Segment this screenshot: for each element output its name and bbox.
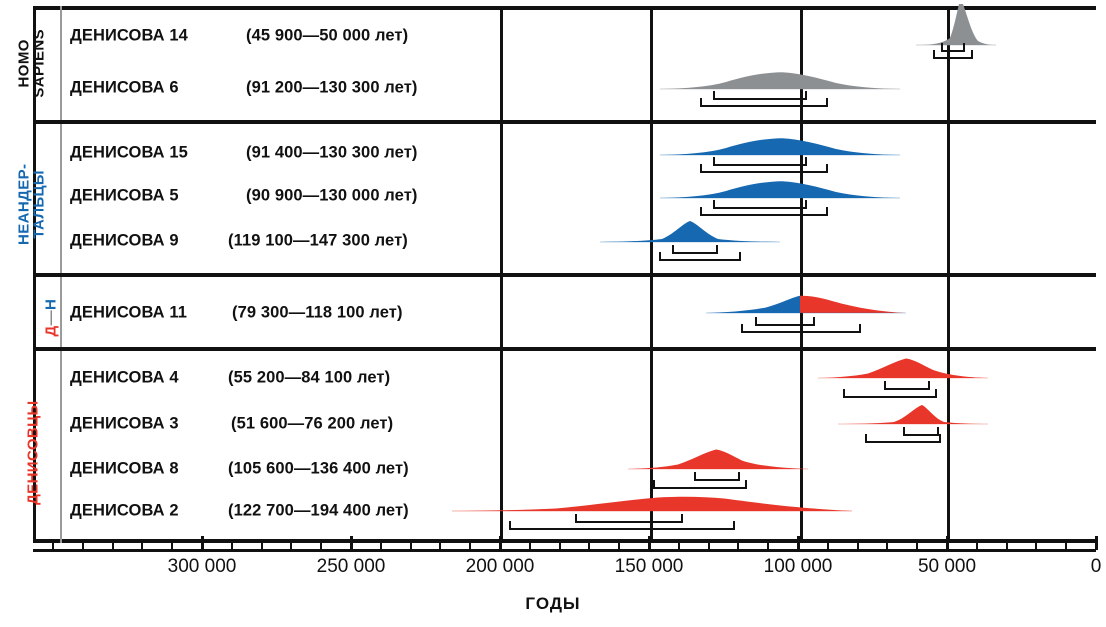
axis-tick-minor <box>290 542 292 550</box>
sample-range: (51 600—76 200 лет) <box>231 415 393 434</box>
axis-tick-minor <box>588 542 590 550</box>
confidence-bracket-outer <box>741 324 861 333</box>
axis-tick-minor <box>380 542 382 550</box>
group-label-neanderthals: НЕАНДЕР-ТАЛЬЦЫ <box>17 142 48 266</box>
axis-tick-major <box>350 536 353 550</box>
axis-tick-label: 300 000 <box>168 556 237 578</box>
group-separator-3 <box>33 347 1096 351</box>
axis-tick-minor <box>708 542 710 550</box>
confidence-bracket-outer <box>700 207 828 216</box>
group-label-dash: — <box>42 310 59 325</box>
x-axis-line <box>33 549 1096 552</box>
axis-tick-minor <box>737 542 739 550</box>
sample-range: (122 700—194 400 лет) <box>228 502 409 521</box>
group-label-n: Н <box>42 299 59 310</box>
sample-name: ДЕНИСОВА 9 <box>70 232 179 251</box>
axis-tick-major <box>201 536 204 550</box>
sample-name: ДЕНИСОВА 15 <box>70 144 188 163</box>
sample-name: ДЕНИСОВА 3 <box>70 415 179 434</box>
axis-tick-minor <box>529 542 531 550</box>
axis-tick-label: 100 000 <box>764 556 833 578</box>
radiocarbon-date-chart: HOMOSAPIENS НЕАНДЕР-ТАЛЬЦЫ Д—Н ДЕНИСОВЦЫ… <box>0 0 1106 627</box>
group-label-d: Д <box>42 325 59 336</box>
sample-range: (91 200—130 300 лет) <box>246 79 418 98</box>
sample-name: ДЕНИСОВА 6 <box>70 79 179 98</box>
sample-range: (119 100—147 300 лет) <box>228 232 408 251</box>
group-separator-1 <box>33 120 1096 124</box>
confidence-bracket-outer <box>509 521 735 530</box>
axis-tick-minor <box>231 542 233 550</box>
sample-name: ДЕНИСОВА 11 <box>70 304 187 323</box>
x-axis-title: ГОДЫ <box>0 594 1106 614</box>
sample-name: ДЕНИСОВА 8 <box>70 460 179 479</box>
axis-tick-minor <box>141 542 143 550</box>
axis-tick-minor <box>827 542 829 550</box>
axis-tick-minor <box>1006 542 1008 550</box>
axis-tick-minor <box>1065 542 1067 550</box>
distribution-curve <box>628 442 808 470</box>
axis-tick-minor <box>767 542 769 550</box>
axis-tick-minor <box>886 542 888 550</box>
axis-tick-minor <box>82 542 84 550</box>
group-label-line2: ТАЛЬЦЫ <box>31 170 48 239</box>
axis-tick-major <box>946 536 949 550</box>
axis-tick-minor <box>320 542 322 550</box>
gridline-50000 <box>947 6 950 543</box>
sample-name: ДЕНИСОВА 4 <box>70 369 179 388</box>
distribution-curve <box>660 174 900 199</box>
group-separator-2 <box>33 273 1096 277</box>
axis-tick-minor <box>916 542 918 550</box>
axis-tick-major <box>1095 536 1098 550</box>
distribution-curve <box>452 485 852 512</box>
axis-tick-major <box>648 536 651 550</box>
distribution-curve <box>916 4 996 46</box>
distribution-curve <box>660 64 900 90</box>
axis-tick-minor <box>112 542 114 550</box>
confidence-bracket-outer <box>933 50 973 59</box>
axis-tick-minor <box>857 542 859 550</box>
axis-tick-minor <box>469 542 471 550</box>
group-label-denisovan-neanderthal: Д—Н <box>43 288 58 348</box>
confidence-bracket-outer <box>865 434 941 443</box>
sample-name: ДЕНИСОВА 5 <box>70 187 179 206</box>
axis-tick-minor <box>1035 542 1037 550</box>
axis-tick-minor <box>559 542 561 550</box>
sample-name: ДЕНИСОВА 2 <box>70 502 179 521</box>
axis-tick-major <box>797 536 800 550</box>
axis-tick-minor <box>976 542 978 550</box>
distribution-curve <box>660 131 900 156</box>
confidence-bracket-outer <box>843 389 937 398</box>
sample-range: (45 900—50 000 лет) <box>246 27 408 46</box>
distribution-curve <box>706 288 906 314</box>
confidence-bracket-outer <box>700 98 828 107</box>
group-label-line2: SAPIENS <box>31 29 48 98</box>
axis-tick-minor <box>439 542 441 550</box>
sample-range: (91 400—130 300 лет) <box>246 144 418 163</box>
axis-tick-minor <box>52 542 54 550</box>
axis-tick-major <box>499 536 502 550</box>
gridline-200000 <box>500 6 503 543</box>
axis-tick-label: 150 000 <box>615 556 684 578</box>
axis-tick-minor <box>261 542 263 550</box>
sample-range: (90 900—130 000 лет) <box>246 187 418 206</box>
axis-tick-label: 200 000 <box>466 556 535 578</box>
group-label-denisovans: ДЕНИСОВЦЫ <box>25 394 40 512</box>
sample-range: (55 200—84 100 лет) <box>228 369 390 388</box>
axis-tick-label: 250 000 <box>317 556 386 578</box>
distribution-curve <box>838 400 988 425</box>
confidence-bracket-outer <box>700 164 828 173</box>
axis-tick-label: 0 <box>1091 556 1102 578</box>
axis-tick-label: 50 000 <box>918 556 976 578</box>
confidence-bracket-outer <box>659 252 741 261</box>
axis-tick-minor <box>678 542 680 550</box>
axis-tick-minor <box>171 542 173 550</box>
group-label-text: ДЕНИСОВЦЫ <box>24 400 41 505</box>
distribution-curve <box>600 216 780 243</box>
axis-tick-minor <box>410 542 412 550</box>
group-label-homo-sapiens: HOMOSAPIENS <box>17 17 48 109</box>
axis-tick-minor <box>618 542 620 550</box>
sample-range: (79 300—118 100 лет) <box>232 304 403 323</box>
sample-name: ДЕНИСОВА 14 <box>70 27 188 46</box>
sample-range: (105 600—136 400 лет) <box>228 460 409 479</box>
distribution-curve <box>818 352 988 379</box>
